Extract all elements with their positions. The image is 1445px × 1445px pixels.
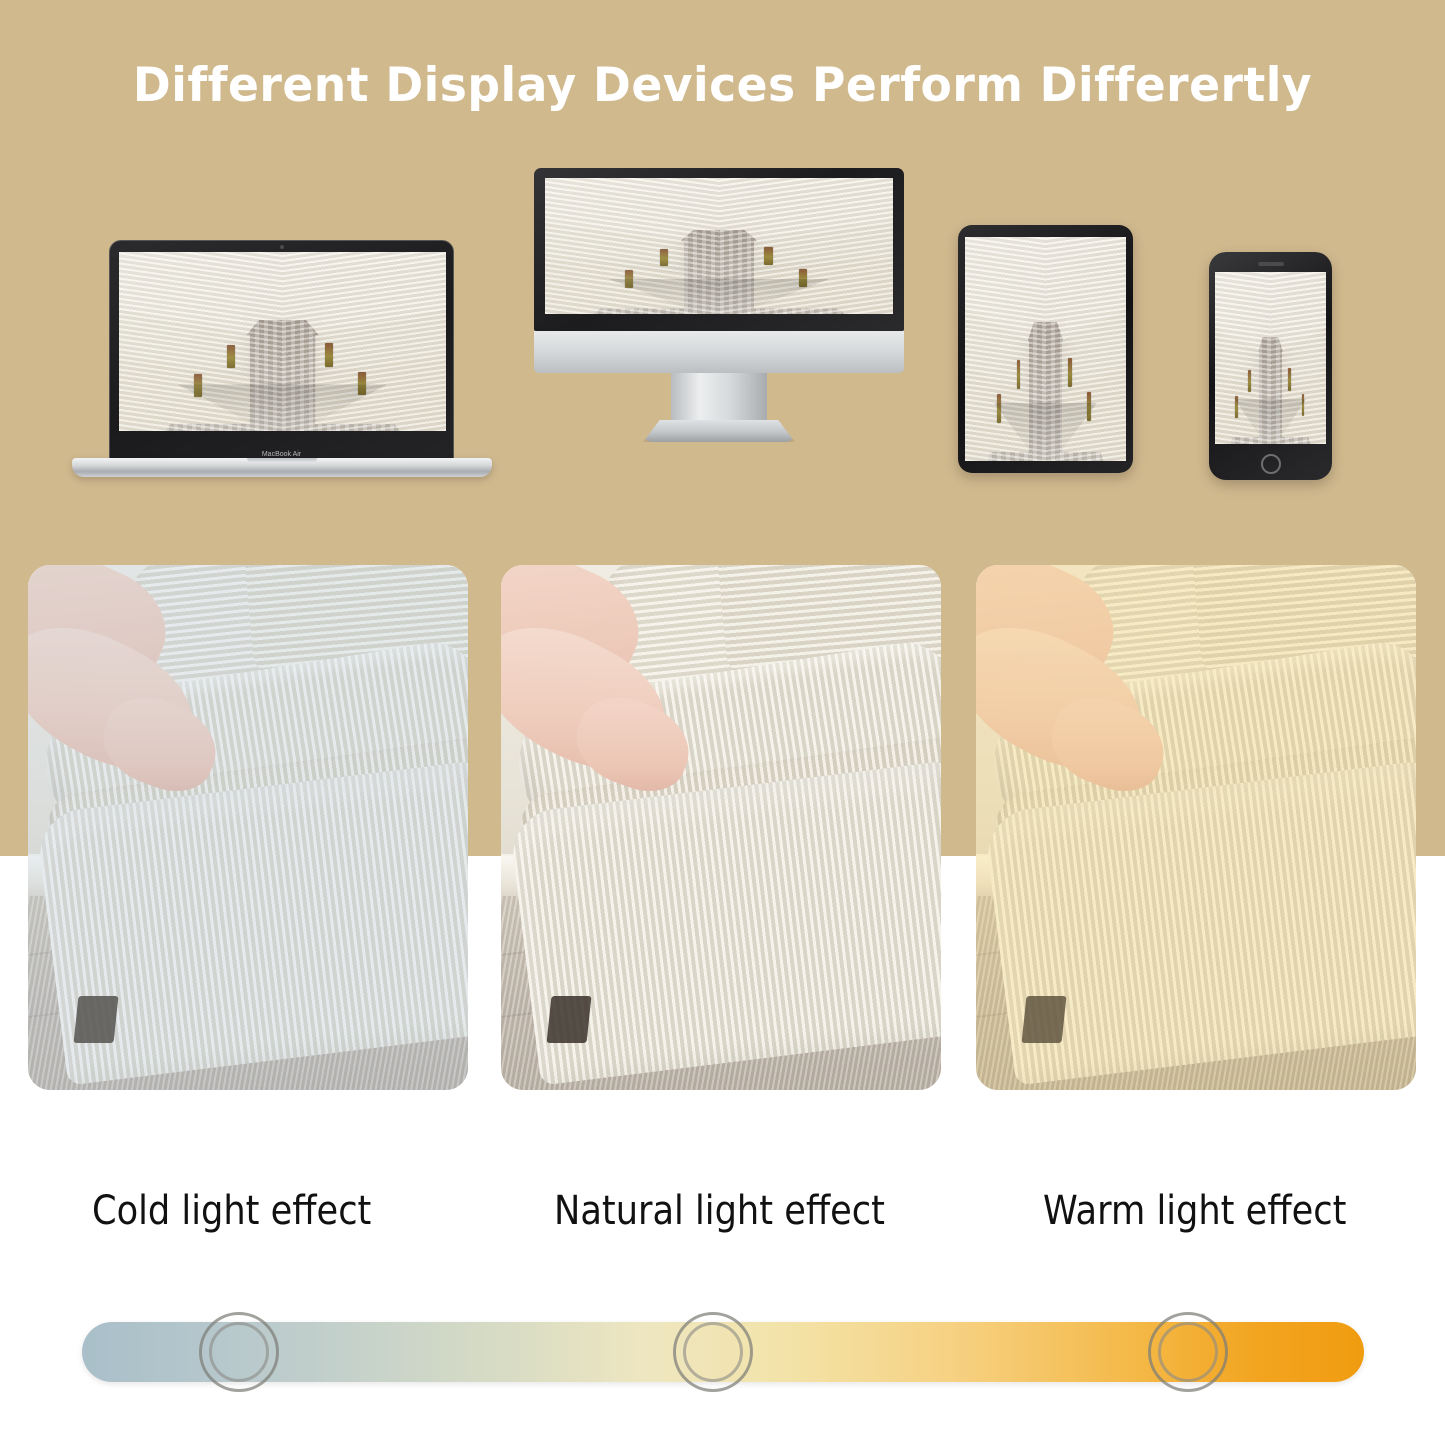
webcam-icon xyxy=(280,245,284,249)
tablet-mockup xyxy=(958,225,1133,473)
tablet-body xyxy=(958,225,1133,473)
laptop-brand-label: MacBook Air xyxy=(110,451,453,458)
sofa-corridor-artwork xyxy=(545,178,893,314)
home-button-icon[interactable] xyxy=(1261,454,1281,474)
sofa-foot xyxy=(547,996,592,1043)
caption-cold-light: Cold light effect xyxy=(92,1188,371,1234)
artwork-fabric-tab xyxy=(1068,358,1072,387)
caption-natural-light: Natural light effect xyxy=(554,1188,885,1234)
laptop-mockup: MacBook Air xyxy=(72,240,492,490)
artwork-fabric-tab xyxy=(1288,368,1291,390)
monitor-chin xyxy=(534,331,904,373)
monitor-stand-neck xyxy=(671,373,767,423)
sofa-photo-artwork xyxy=(976,565,1416,1090)
monitor-bezel xyxy=(534,168,904,331)
laptop-lid: MacBook Air xyxy=(109,240,454,462)
slider-marker-cold[interactable] xyxy=(199,1312,279,1392)
sofa-photo-artwork xyxy=(501,565,941,1090)
laptop-notch xyxy=(247,458,317,463)
slider-marker-warm[interactable] xyxy=(1148,1312,1228,1392)
artwork-fabric-tab xyxy=(227,345,235,368)
artwork-fabric-tab xyxy=(764,247,772,265)
artwork-fabric-tab xyxy=(1235,396,1238,418)
earpiece-speaker-icon xyxy=(1258,262,1284,266)
artwork-fabric-tab xyxy=(1017,360,1021,389)
monitor-screen xyxy=(545,178,893,314)
artwork-fabric-tab xyxy=(660,249,668,267)
sofa-photo-artwork xyxy=(28,565,468,1090)
smartphone-mockup xyxy=(1209,252,1332,480)
sofa-corridor-artwork xyxy=(965,237,1126,461)
phone-body xyxy=(1209,252,1332,480)
sofa-corridor-artwork xyxy=(1215,272,1326,444)
page-title: Different Display Devices Perform Differ… xyxy=(22,58,1424,113)
slider-marker-natural[interactable] xyxy=(673,1312,753,1392)
artwork-fabric-tab xyxy=(1248,370,1251,392)
photo-warm-light xyxy=(976,565,1416,1090)
artwork-fabric-tab xyxy=(325,343,333,366)
desktop-monitor-mockup xyxy=(534,168,904,490)
tablet-screen xyxy=(965,237,1126,461)
sofa-foot xyxy=(74,996,119,1043)
sofa-corridor-artwork xyxy=(119,252,446,431)
laptop-screen xyxy=(119,252,446,431)
monitor-stand-base xyxy=(643,420,795,442)
caption-warm-light: Warm light effect xyxy=(1043,1188,1346,1234)
photo-natural-light xyxy=(501,565,941,1090)
phone-screen xyxy=(1215,272,1326,444)
sofa-foot xyxy=(1022,996,1067,1043)
laptop-base xyxy=(72,458,492,477)
photo-cold-light xyxy=(28,565,468,1090)
